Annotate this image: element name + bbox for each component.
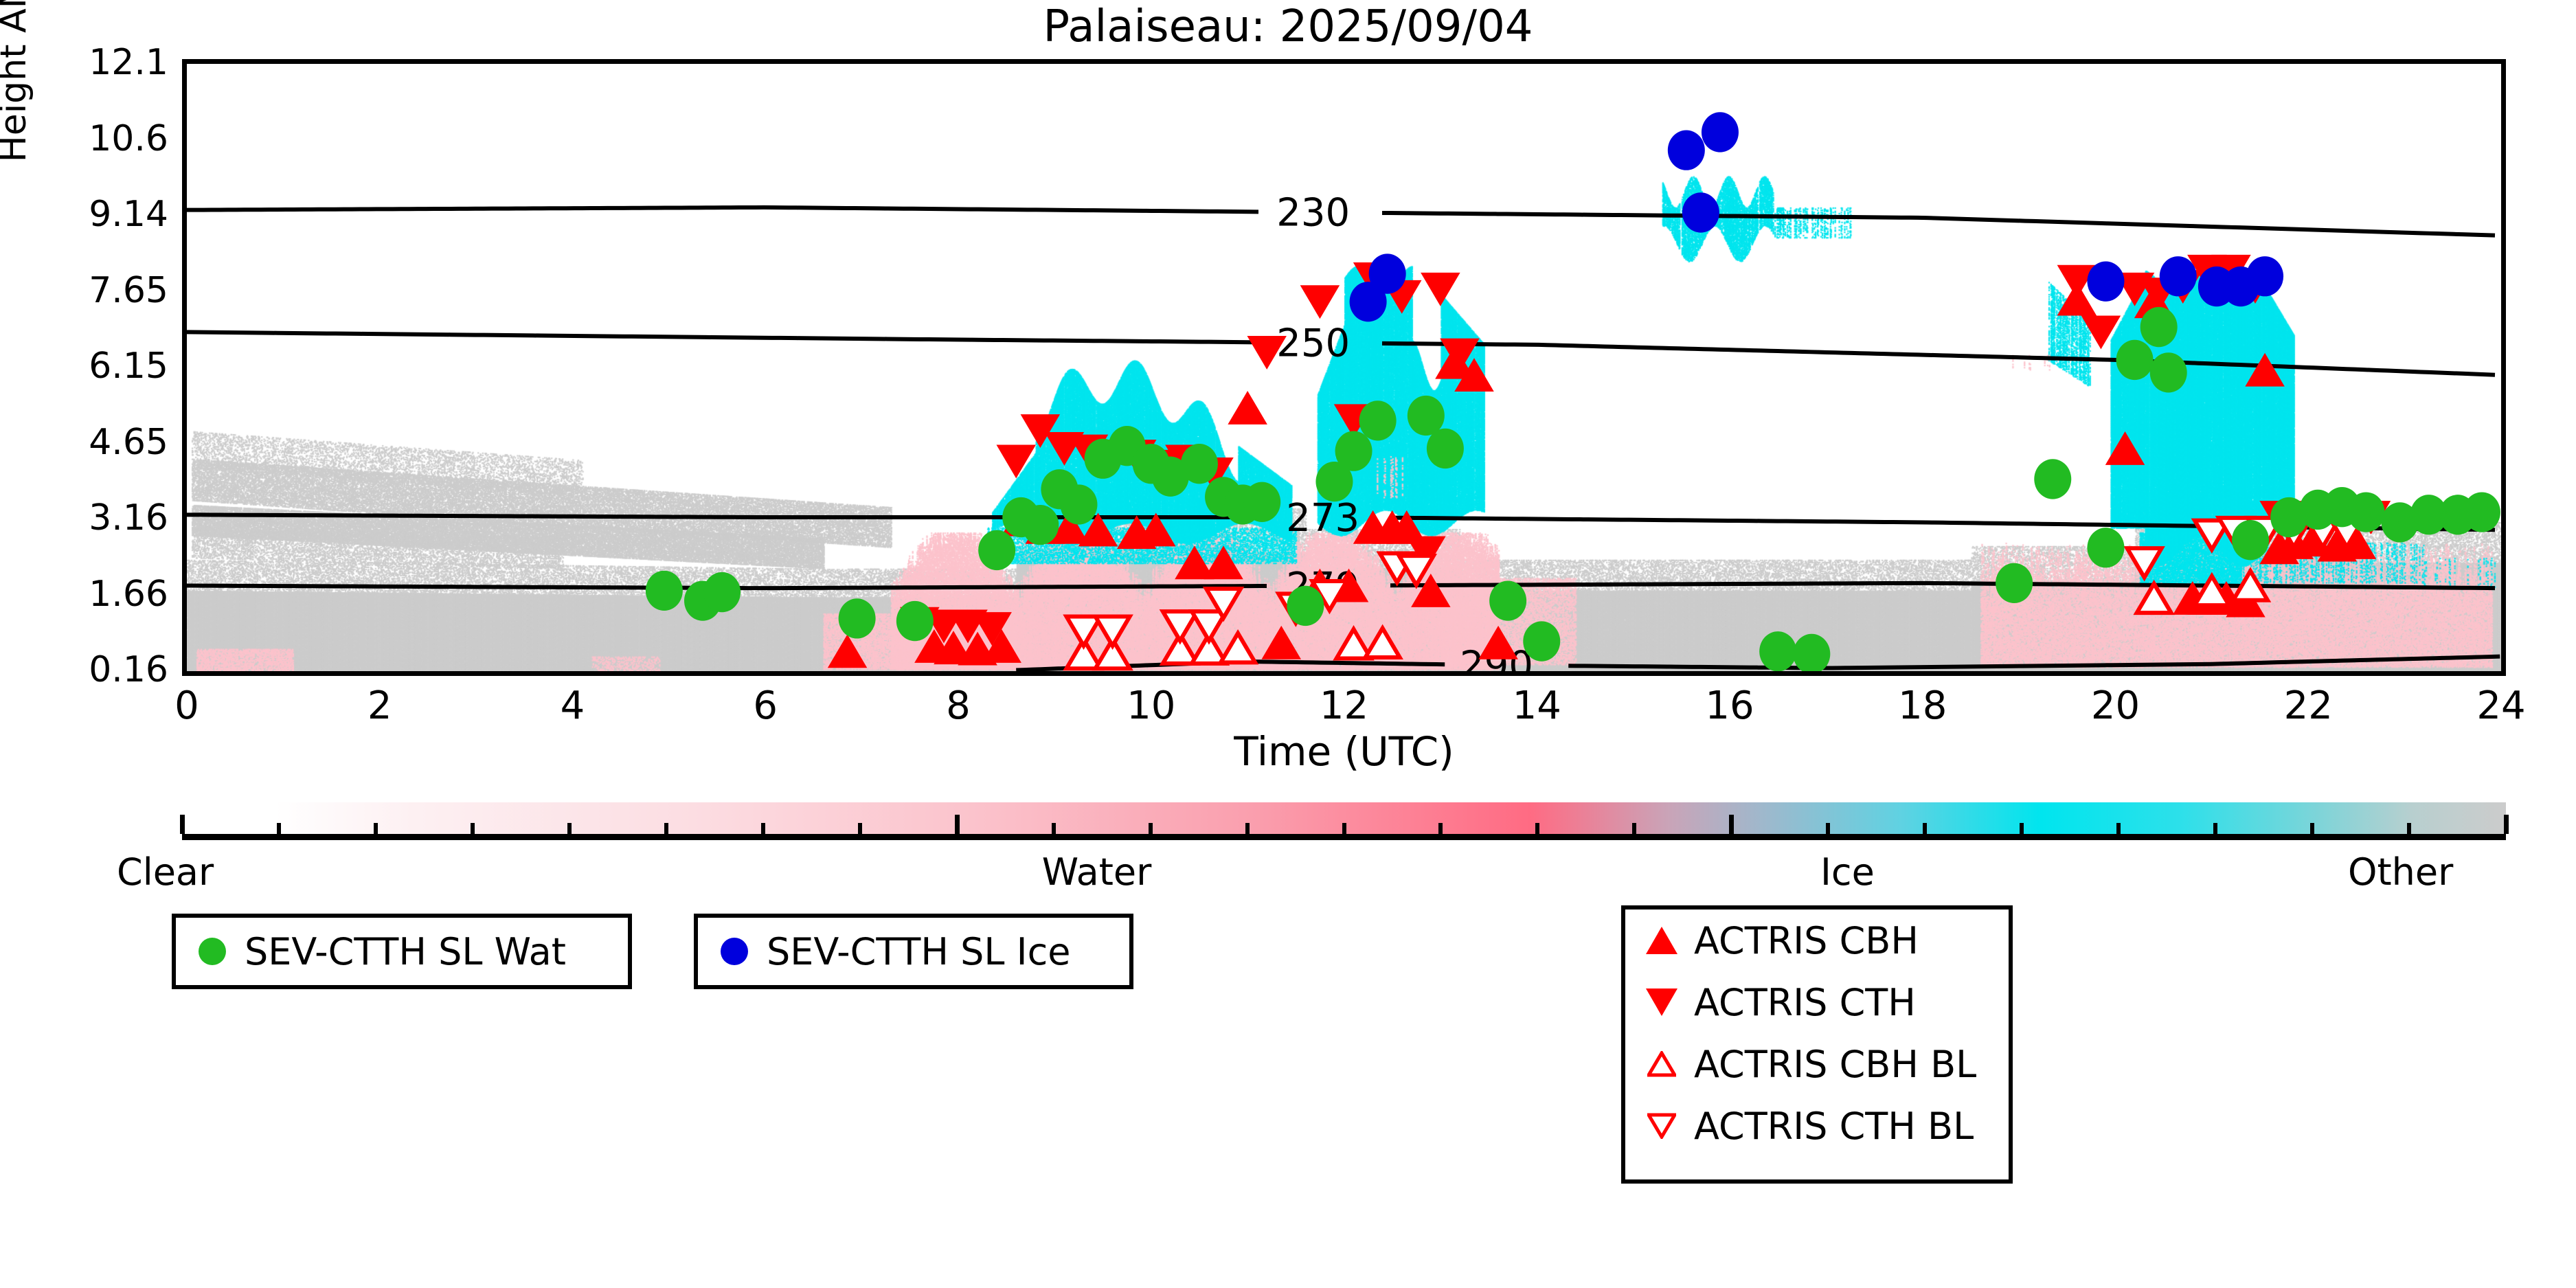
colorbar-tick [567,823,572,834]
legend-sev-ctth-sl-wat[interactable]: SEV-CTTH SL Wat [172,914,632,989]
colorbar-tick [858,823,862,834]
colorbar-tick [1149,823,1153,834]
x-tick-label: 24 [2432,683,2570,728]
sev-ctth-sl-wat-marker [646,571,683,611]
sev-ctth-sl-wat-marker [2463,492,2500,532]
plot-overlay: 230250273279290 [187,64,2501,671]
colorbar-tick [1245,823,1250,834]
x-tick-label: 18 [1854,683,1991,728]
colorbar-tick [1923,823,1927,834]
colorbar-tick [1052,823,1056,834]
sev-ctth-sl-wat-marker [1408,396,1445,436]
isotherm-line [1390,583,2495,588]
isotherm-label: 273 [1286,496,1359,541]
legend-item-actris-cth[interactable]: ACTRIS CTH [1625,971,2009,1033]
colorbar-tick [277,823,281,834]
sev-ctth-sl-wat-marker [1793,634,1830,671]
x-tick-label: 2 [311,683,449,728]
sev-ctth-sl-ice-marker [1350,282,1387,321]
x-tick-label: 20 [2047,683,2184,728]
blue-circle-icon [716,938,753,965]
colorbar-axis [182,834,2506,840]
y-tick-label: 6.15 [0,346,168,387]
green-circle-icon [194,938,231,965]
page-title: Palaiseau: 2025/09/04 [0,1,2576,52]
sev-ctth-sl-ice-marker [2160,256,2197,296]
colorbar-tick [761,823,765,834]
y-tick-label: 4.65 [0,422,168,463]
colorbar-tick [2116,823,2121,834]
legend-label-actris-cth: ACTRIS CTH [1694,981,1916,1024]
isotherm-line [187,332,1258,342]
colorbar-tick [1632,823,1636,834]
actris-cbh-marker [2107,433,2144,464]
x-tick-label: 0 [118,683,256,728]
colorbar-tick [2504,815,2509,834]
legend-label-actris-cth-bl: ACTRIS CTH BL [1694,1105,1974,1148]
isotherm-label: 250 [1276,321,1350,366]
x-tick-label: 6 [697,683,834,728]
sev-ctth-sl-wat-marker [703,572,741,612]
x-axis-label: Time (UTC) [182,728,2506,775]
sev-ctth-sl-wat-marker [1996,563,2033,603]
colorbar-tick [2020,823,2024,834]
colorbar[interactable] [182,802,2506,845]
sev-ctth-sl-ice-marker [2246,256,2283,296]
y-tick-label: 1.66 [0,574,168,615]
x-tick-label: 14 [1468,683,1605,728]
sev-ctth-sl-wat-marker [2347,492,2384,532]
triangle-down-open-icon [1643,1113,1680,1139]
isotherm-line [1568,657,2500,668]
sev-ctth-sl-ice-marker [1702,112,1739,152]
y-tick-label: 9.14 [0,194,168,235]
x-tick-label: 8 [890,683,1027,728]
sev-ctth-sl-wat-marker [2150,352,2187,392]
sev-ctth-sl-wat-marker [1243,482,1280,522]
sev-ctth-sl-wat-marker [2034,459,2071,499]
actris-cth-marker [2082,316,2119,348]
actris-cth-bl-marker [1096,617,1130,646]
actris-cbh-bl-marker [2137,584,2171,613]
isotherm-line [1382,343,2495,375]
isotherm-line [187,207,1258,212]
sev-ctth-sl-wat-marker [1181,444,1218,484]
sev-ctth-sl-wat-marker [1359,400,1397,440]
actris-cth-marker [1422,273,1459,305]
actris-cbh-marker [829,635,866,667]
actris-cbh-marker [2246,354,2283,386]
colorbar-tick [1535,823,1539,834]
legend-item-actris-cbh[interactable]: ACTRIS CBH [1625,909,2009,971]
actris-cbh-bl-marker [1366,628,1400,657]
sev-ctth-sl-wat-marker [978,530,1015,570]
legend-label-sev-wat: SEV-CTTH SL Wat [245,930,566,973]
actris-cth-marker [997,446,1035,477]
sev-ctth-sl-ice-marker [1668,130,1705,170]
actris-cbh-bl-marker [1221,633,1255,663]
sev-ctth-sl-wat-marker [1021,505,1059,545]
colorbar-tick [664,823,668,834]
sev-ctth-sl-wat-marker [2087,528,2124,567]
triangle-down-filled-icon [1643,988,1680,1016]
x-tick-label: 12 [1276,683,1413,728]
y-tick-label: 12.1 [0,42,168,83]
isotherm-line [187,515,1267,517]
sev-ctth-sl-wat-marker [1335,431,1372,471]
sev-ctth-sl-wat-marker [896,601,934,641]
colorbar-tick [471,823,475,834]
legend-sev-ctth-sl-ice[interactable]: SEV-CTTH SL Ice [694,914,1133,989]
colorbar-label-clear: Clear [117,850,214,894]
colorbar-tick [180,815,185,834]
legend-item-actris-cth-bl[interactable]: ACTRIS CTH BL [1625,1095,2009,1157]
legend-label-sev-ice: SEV-CTTH SL Ice [767,930,1071,973]
sev-ctth-sl-ice-marker [1682,192,1719,232]
sev-ctth-sl-ice-marker [2087,262,2124,302]
colorbar-tick [2213,823,2217,834]
y-tick-label: 10.6 [0,118,168,159]
sev-ctth-sl-wat-marker [1489,580,1526,620]
legend-actris[interactable]: ACTRIS CBH ACTRIS CTH ACTRIS CBH BL ACTR… [1621,905,2013,1184]
sev-ctth-sl-wat-marker [1427,429,1464,468]
actris-cbh-marker [1205,547,1242,578]
colorbar-tick [1826,823,1830,834]
y-axis-label: Height AMSL (Km) [0,0,34,206]
sev-ctth-sl-wat-marker [2140,307,2178,347]
colorbar-tick [955,815,960,834]
sev-ctth-sl-wat-marker [2232,520,2269,560]
y-tick-label: 7.65 [0,270,168,311]
sev-ctth-sl-wat-marker [1287,586,1324,626]
sev-ctth-sl-wat-marker [1060,484,1097,524]
colorbar-tick [1729,815,1734,834]
legend-label-actris-cbh: ACTRIS CBH [1694,919,1919,962]
triangle-up-open-icon [1643,1051,1680,1077]
sev-ctth-sl-wat-marker [1523,621,1560,661]
sev-ctth-sl-wat-marker [2116,340,2154,380]
colorbar-tick [2310,823,2314,834]
plot-area[interactable]: 230250273279290 [182,59,2506,676]
colorbar-tick [1438,823,1443,834]
actris-cbh-marker [1229,392,1266,424]
colorbar-tick [2407,823,2411,834]
colorbar-tick [1342,823,1346,834]
isotherm-label: 230 [1276,191,1350,236]
legend-label-actris-cbh-bl: ACTRIS CBH BL [1694,1043,1976,1086]
sev-ctth-sl-wat-marker [1759,631,1796,671]
x-tick-label: 4 [504,683,642,728]
x-tick-label: 10 [1083,683,1220,728]
triangle-up-filled-icon [1643,927,1680,954]
legend-item-actris-cbh-bl[interactable]: ACTRIS CBH BL [1625,1033,2009,1095]
colorbar-tick [374,823,378,834]
x-tick-label: 16 [1661,683,1798,728]
x-tick-label: 22 [2239,683,2377,728]
actris-cth-bl-marker [2127,548,2162,578]
colorbar-label-water: Water [1042,850,1152,894]
colorbar-label-other: Other [2348,850,2453,894]
actris-cth-marker [1301,286,1338,317]
isotherm-line [1382,213,2495,236]
colorbar-label-ice: Ice [1820,850,1875,894]
y-tick-label: 3.16 [0,497,168,539]
sev-ctth-sl-wat-marker [839,598,876,638]
actris-cbh-marker [1263,627,1300,659]
